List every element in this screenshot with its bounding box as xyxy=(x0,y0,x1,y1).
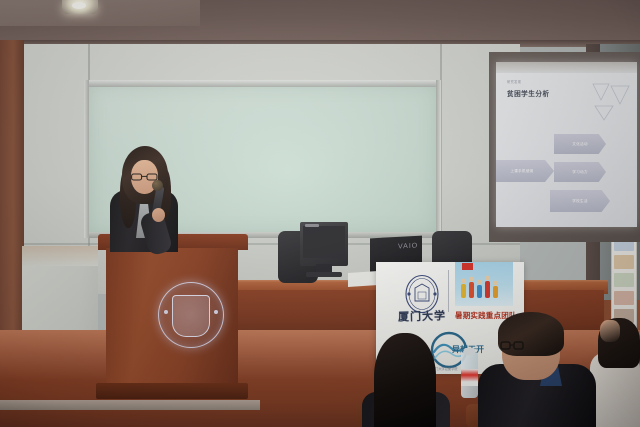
chalkboard-frame-right xyxy=(436,80,441,238)
audience-member-left-hair xyxy=(374,333,436,427)
left-wall-panel-top xyxy=(22,246,98,266)
banner-footer-text: 厦门大学嘉庚学院 xyxy=(432,366,458,371)
projection-screen: 研究发现 贫困学生分析 上课手机使用 文化活动 学习动力 学校生活 xyxy=(496,62,637,227)
poster-photo xyxy=(614,255,634,269)
poster-photo xyxy=(614,273,634,287)
poster-photo xyxy=(614,291,634,305)
podium-base xyxy=(96,383,248,399)
banner-university-name: 厦门大学 xyxy=(398,307,446,324)
lecture-hall-photo: 研究发现 贫困学生分析 上课手机使用 文化活动 学习动力 学校生活 VAIO xyxy=(0,0,640,427)
water-bottle-label xyxy=(461,369,478,386)
slide-title: 贫困学生分析 xyxy=(507,88,550,98)
audience-glasses-icon xyxy=(500,340,524,352)
stage-edge-strip xyxy=(0,400,260,410)
slide-chevron-side: 上课手机使用 xyxy=(496,160,554,182)
slide-chevron-1: 文化活动 xyxy=(554,134,606,154)
ceiling-light-bulb xyxy=(72,2,86,9)
monitor-brand-logo xyxy=(305,224,319,227)
banner-divider xyxy=(448,270,449,312)
artwork-flag-icon xyxy=(462,263,473,270)
chalkboard-frame-left xyxy=(84,80,89,238)
projection-screen-roller xyxy=(496,62,637,73)
speaker-hand xyxy=(152,208,165,222)
slide-kicker: 研究发现 xyxy=(507,79,521,84)
desk-papers xyxy=(348,271,378,287)
ceiling-soffit xyxy=(0,0,200,26)
monitor-screen-back xyxy=(303,226,345,258)
audience-member-right-hand xyxy=(600,320,620,342)
university-seal-shield-icon xyxy=(172,295,210,337)
laptop-brand-label: VAIO xyxy=(398,242,418,250)
left-wall-column xyxy=(0,40,24,340)
chalkboard-frame-top xyxy=(86,80,440,87)
slide-chevron-2: 学习动力 xyxy=(554,162,606,182)
monitor-base xyxy=(306,272,342,277)
slide-sketch-icon xyxy=(589,80,635,122)
slide-chevron-3: 学校生活 xyxy=(550,190,610,212)
seal-dot xyxy=(164,310,168,314)
water-bottle-cap xyxy=(464,348,475,355)
seal-dot xyxy=(214,310,218,314)
microphone-head xyxy=(152,180,163,191)
